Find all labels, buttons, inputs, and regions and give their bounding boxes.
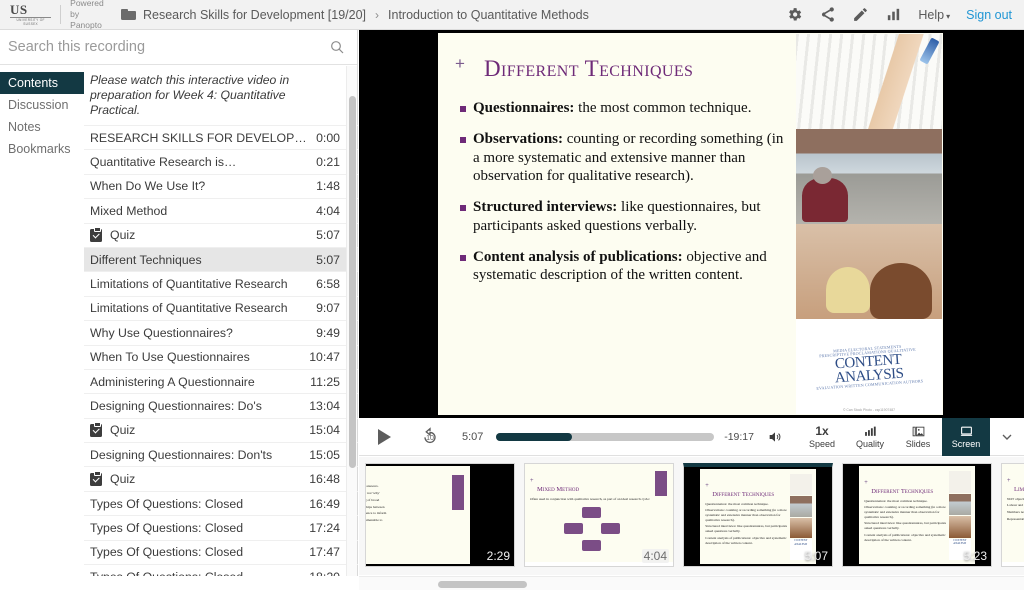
contents-row-timestamp: 0:21 (316, 155, 340, 169)
contents-row-timestamp: 1:48 (316, 179, 340, 193)
video-stage[interactable]: + Different Techniques Questionnaires: t… (359, 30, 1024, 418)
contents-row-timestamp: 13:04 (309, 399, 340, 413)
thumbnail-plus-icon: + (864, 480, 868, 486)
contents-row-title: When Do We Use It? (90, 179, 310, 193)
sidebar-tabs: ContentsDiscussionNotesBookmarks (0, 66, 84, 160)
player-button-label: Screen (952, 439, 981, 449)
contents-row-timestamp: 4:04 (316, 204, 340, 218)
contents-row[interactable]: Different Techniques5:07 (84, 247, 358, 271)
player-button-speed[interactable]: 1xSpeed (798, 418, 846, 456)
breadcrumb-separator-icon: › (375, 8, 379, 22)
content-analysis-wordcloud: MEDIA ELECTORAL STATEMENTS PRESCRIPTIVE … (796, 319, 942, 414)
thumbnail-strip[interactable]: ?research.ts and firm answers.estions, b… (359, 457, 1024, 575)
player-button-label: Speed (809, 439, 835, 449)
thumbnail[interactable]: +Limitations ofNOT objective:Labour and … (1001, 463, 1024, 567)
thumbnail-line: Numbers not so itself, but needs … (1007, 510, 1024, 515)
slide-bullet: Structured interviews: like questionnair… (460, 198, 788, 235)
bullet-square-icon (460, 106, 466, 112)
contents-row-timestamp: 0:00 (316, 131, 340, 145)
contents-row-timestamp: 15:04 (309, 423, 340, 437)
play-icon[interactable] (378, 429, 391, 445)
contents-row[interactable]: Types Of Questions: Closed17:24 (84, 515, 358, 539)
thumbnail-line: NOT objective: (1007, 497, 1024, 502)
left-panel: ContentsDiscussionNotesBookmarks Please … (0, 30, 358, 590)
left-panel-footer (0, 576, 358, 590)
contents-row[interactable]: Administering A Questionnaire11:25 (84, 369, 358, 393)
contents-row-timestamp: 15:05 (309, 448, 340, 462)
slide-image-column: MEDIA ELECTORAL STATEMENTS PRESCRIPTIVE … (796, 33, 943, 415)
thumbnail-slide-preview: +Limitations ofNOT objective:Labour and … (1002, 464, 1024, 566)
street-observation-photo (790, 496, 812, 517)
slide-bullet: Content analysis of publications: object… (460, 248, 788, 285)
decorative-bar (655, 471, 667, 496)
current-time-label: 5:07 (462, 431, 492, 443)
slide-bullet-text: Content analysis of publications: object… (473, 248, 788, 285)
thumbnail[interactable]: +Different TechniquesQuestionnaires: the… (683, 463, 833, 567)
sidebar-tab-discussion[interactable]: Discussion (0, 94, 84, 116)
thumbnail-line: Observations: counting or recording some… (705, 508, 789, 522)
survey-form-photo (949, 471, 971, 493)
thumbnail-line: research. (365, 478, 450, 483)
contents-row-timestamp: 5:07 (316, 253, 340, 267)
thumbnail-line: surements amenable to (365, 518, 450, 523)
thumbnail-timestamp: 4:04 (642, 549, 669, 563)
thumbnail-image-column (653, 469, 669, 558)
thumbnail-line: strong evidence to inform (365, 511, 450, 516)
breadcrumb-current-session: Introduction to Quantitative Methods (388, 8, 589, 22)
contents-row-timestamp: 9:07 (316, 301, 340, 315)
logo-divider (60, 5, 61, 24)
seek-bar[interactable] (496, 433, 714, 441)
thumbnail-line: Structured interviews: like questionnair… (705, 524, 789, 533)
contents-scrollbar-thumb[interactable] (349, 96, 356, 468)
sidebar-tab-label: Contents (8, 76, 58, 90)
contents-row-timestamp: 5:07 (316, 228, 340, 242)
sidebar-tab-label: Bookmarks (8, 142, 71, 156)
contents-row-timestamp: 9:49 (316, 326, 340, 340)
thumbnail-title: Different Techniques (871, 489, 948, 496)
contents-row[interactable]: Types Of Questions: Closed17:47 (84, 540, 358, 564)
sidebar-tab-label: Discussion (8, 98, 68, 112)
slide-bullet-lead: Observations: (473, 131, 563, 147)
thumbnail-line: Questionnaires: the most common techniqu… (705, 502, 789, 507)
call-center-headset-photo (949, 516, 971, 538)
contents-row-title: Designing Questionnaires: Do's (90, 399, 303, 413)
contents-quiz-row[interactable]: Quiz5:07 (84, 223, 358, 247)
help-menu[interactable]: Help▾ (918, 6, 950, 24)
contents-row-title: Types Of Questions: Closed (90, 545, 303, 559)
thumbnail-line: derstanding of broad (365, 498, 450, 503)
research-cycle-diagram (530, 503, 653, 555)
thumbnail-plus-icon: + (530, 478, 534, 484)
player-button-quality[interactable]: Quality (846, 418, 894, 456)
thumbnail-line: Content analysis of publications: object… (705, 536, 789, 545)
player-button-label: Slides (906, 439, 931, 449)
contents-row-title: RESEARCH SKILLS FOR DEVELOPMENT (90, 131, 310, 145)
contents-list[interactable]: Please watch this interactive video in p… (84, 66, 358, 590)
contents-row-timestamp: 10:47 (309, 350, 340, 364)
search-bar (0, 30, 357, 65)
contents-scrollbar[interactable] (346, 66, 357, 590)
contents-row-title: Types Of Questions: Closed (90, 521, 303, 535)
thumbnail-line: ts and firm answers. (365, 484, 450, 489)
player-button-screen[interactable]: Screen (942, 418, 990, 456)
slide-bullet-text: Questionnaires: the most common techniqu… (473, 99, 751, 117)
slide-bullet-lead: Questionnaires: (473, 100, 574, 116)
sussex-logo: US UNIVERSITY OF SUSSEX Powered by Panop… (0, 0, 112, 31)
contents-row-timestamp: 6:58 (316, 277, 340, 291)
contents-row-title: Quiz (110, 228, 310, 242)
slide-plus-icon: + (455, 55, 465, 72)
thumbnail-title: Different Techniques (712, 492, 789, 499)
breadcrumb: Research Skills for Development [19/20] … (121, 8, 589, 22)
player-right-buttons: 1xSpeedQualitySlidesScreen (798, 418, 990, 456)
sign-out-link[interactable]: Sign out (966, 8, 1012, 22)
contents-row-timestamp: 17:24 (309, 521, 340, 535)
contents-row-title: Quantitative Research is… (90, 155, 310, 169)
thumbnail-timestamp: 5:07 (805, 549, 828, 563)
contents-row-title: Quiz (110, 423, 303, 437)
thumbnail[interactable]: +Mixed MethodOften used in conjunction w… (524, 463, 674, 567)
player-button-slides[interactable]: Slides (894, 418, 942, 456)
thumbnail[interactable]: +Different TechniquesQuestionnaires: the… (842, 463, 992, 567)
contents-row[interactable]: When Do We Use It?1:48 (84, 174, 358, 198)
search-icon[interactable] (329, 39, 345, 55)
contents-row-title: Different Techniques (90, 253, 310, 267)
gear-icon[interactable] (786, 6, 803, 23)
chevron-down-icon: ▾ (946, 12, 950, 21)
player-button-label: Quality (856, 439, 884, 449)
contents-row[interactable]: Why Use Questionnaires?9:49 (84, 320, 358, 344)
contents-row-title: Administering A Questionnaire (90, 375, 304, 389)
search-input[interactable] (8, 39, 329, 55)
slide-bullet-lead: Content analysis of publications: (473, 249, 683, 265)
quiz-clipboard-check-icon (90, 229, 102, 242)
contents-row-title: Limitations of Quantitative Research (90, 301, 310, 315)
folder-icon (121, 9, 136, 20)
street-observation-photo (796, 129, 942, 224)
volume-icon[interactable] (766, 429, 784, 445)
remaining-time-label: -19:17 (724, 431, 754, 443)
sidebar-tab-bookmarks[interactable]: Bookmarks (0, 138, 84, 160)
call-center-headset-photo (796, 224, 942, 319)
contents-row[interactable]: RESEARCH SKILLS FOR DEVELOPMENT0:00 (84, 125, 358, 149)
pencil-icon[interactable] (852, 6, 869, 23)
call-center-headset-photo (790, 518, 812, 539)
contents-row[interactable]: Designing Questionnaires: Don'ts15:05 (84, 442, 358, 466)
playback-speed-value: 1x (815, 425, 828, 438)
thumbnail-line: ? (365, 471, 450, 476)
top-bar: US UNIVERSITY OF SUSSEX Powered by Panop… (0, 0, 1024, 30)
rewind-10-icon[interactable]: 10 (420, 427, 440, 447)
bullet-square-icon (460, 255, 466, 261)
contents-row[interactable]: Designing Questionnaires: Do's13:04 (84, 393, 358, 417)
contents-row-timestamp: 11:25 (310, 375, 340, 389)
contents-row[interactable]: Limitations of Quantitative Research6:58 (84, 271, 358, 295)
bullet-square-icon (460, 137, 466, 143)
contents-row[interactable]: Limitations of Quantitative Research9:07 (84, 296, 358, 320)
thumbnail-title: Limitations of (1014, 487, 1024, 494)
survey-form-photo (790, 474, 812, 495)
contents-row-title: Mixed Method (90, 204, 310, 218)
contents-quiz-row[interactable]: Quiz16:48 (84, 466, 358, 490)
quiz-clipboard-check-icon (90, 473, 102, 486)
thumbnail-line: of relationships between (365, 505, 450, 510)
slide-bullet: Observations: counting or recording some… (460, 130, 788, 185)
screen-icon (959, 424, 974, 438)
top-bar-actions: Help▾ Sign out (786, 6, 1024, 24)
slide-bullets: Questionnaires: the most common techniqu… (460, 99, 788, 284)
slide-bullet-lead: Structured interviews: (473, 199, 617, 215)
contents-row-title: Why Use Questionnaires? (90, 326, 310, 340)
quiz-clipboard-check-icon (90, 424, 102, 437)
contents-row-title: Designing Questionnaires: Don'ts (90, 448, 303, 462)
sidebar-tab-notes[interactable]: Notes (0, 116, 84, 138)
help-label: Help (918, 8, 944, 22)
thumbnail-line: Labour and resource samples when in admi… (1007, 503, 1024, 508)
street-observation-photo (949, 494, 971, 516)
breadcrumb-folder-link[interactable]: Research Skills for Development [19/20] (143, 8, 366, 22)
logo-initials: US (10, 3, 51, 16)
thumbnail-scrollbar[interactable] (359, 576, 1024, 590)
contents-row[interactable]: Mixed Method4:04 (84, 198, 358, 222)
contents-row-timestamp: 16:49 (309, 497, 340, 511)
contents-row-title: Types Of Questions: Closed (90, 497, 303, 511)
contents-row[interactable]: Quantitative Research is…0:21 (84, 149, 358, 173)
thumbnail-line: Observations: counting or recording some… (864, 505, 948, 519)
thumbnail-line: Questionnaires: the most common techniqu… (864, 499, 948, 504)
thumbnail-timestamp: 2:29 (487, 549, 510, 563)
contents-note: Please watch this interactive video in p… (84, 66, 358, 125)
thumbnail-line: Representation never be perfect populati… (1007, 517, 1024, 522)
slide-bullet-rest: the most common technique. (574, 100, 751, 116)
thumbnail-plus-icon: + (1007, 478, 1011, 484)
survey-form-photo (796, 34, 942, 129)
stats-icon[interactable] (885, 6, 902, 23)
thumbnail-line: estions, but not 'why' (365, 491, 450, 496)
quality-bars-icon (863, 424, 878, 438)
thumbnail-title: Mixed Method (537, 487, 653, 494)
player-control-bar: 10 5:07 -19:17 1xSpeedQualitySlidesScree… (359, 418, 1024, 456)
contents-row-title: When To Use Questionnaires (90, 350, 303, 364)
contents-row-timestamp: 17:47 (309, 545, 340, 559)
thumbnail-timestamp: 5:23 (964, 549, 987, 563)
wordcloud-text: MEDIA ELECTORAL STATEMENTS PRESCRIPTIVE … (814, 343, 924, 390)
thumbnail-image-column: CONTENTANALYSIS (790, 474, 812, 560)
thumbnail-image-column: CONTENTANALYSIS (949, 471, 971, 560)
contents-quiz-row[interactable]: Quiz15:04 (84, 418, 358, 442)
thumbnail-line: Often used in conjunction with qualitati… (530, 497, 653, 502)
powered-by-panopto: Powered by Panopto (70, 0, 112, 31)
sidebar-tab-contents[interactable]: Contents (0, 72, 84, 94)
thumbnail-line: Structured interviews: like questionnair… (864, 521, 948, 530)
contents-row-title: Quiz (110, 472, 303, 486)
slide-bullet: Questionnaires: the most common techniqu… (460, 99, 788, 117)
thumbnail-image-column (450, 471, 466, 560)
slide-bullet-text: Observations: counting or recording some… (473, 130, 788, 185)
seek-bar-fill (496, 433, 572, 441)
thumbnail[interactable]: ?research.ts and firm answers.estions, b… (365, 463, 515, 567)
thumbnail-line: Content analysis of publications: object… (864, 533, 948, 542)
chevron-down-icon[interactable] (990, 418, 1024, 456)
share-icon[interactable] (819, 6, 836, 23)
logo-subtitle: UNIVERSITY OF SUSSEX (10, 17, 51, 27)
current-slide: + Different Techniques Questionnaires: t… (438, 33, 943, 415)
contents-row[interactable]: Types Of Questions: Closed16:49 (84, 491, 358, 515)
rewind-seconds-label: 10 (420, 427, 440, 447)
contents-row-title: Limitations of Quantitative Research (90, 277, 310, 291)
slide-bullet-text: Structured interviews: like questionnair… (473, 198, 788, 235)
photo-credit: © Can Stock Photo - csp11907487 (796, 408, 942, 412)
sidebar-tab-label: Notes (8, 120, 41, 134)
slides-icon (911, 424, 926, 438)
contents-row-timestamp: 16:48 (309, 472, 340, 486)
contents-row[interactable]: When To Use Questionnaires10:47 (84, 345, 358, 369)
slide-title: Different Techniques (484, 57, 788, 81)
bullet-square-icon (460, 205, 466, 211)
decorative-bar (452, 475, 464, 510)
thumbnail-plus-icon: + (705, 483, 709, 489)
thumbnail-row: ?research.ts and firm answers.estions, b… (359, 457, 1024, 567)
slide-text-column: + Different Techniques Questionnaires: t… (438, 33, 796, 415)
thumbnail-scrollbar-thumb[interactable] (438, 581, 527, 588)
